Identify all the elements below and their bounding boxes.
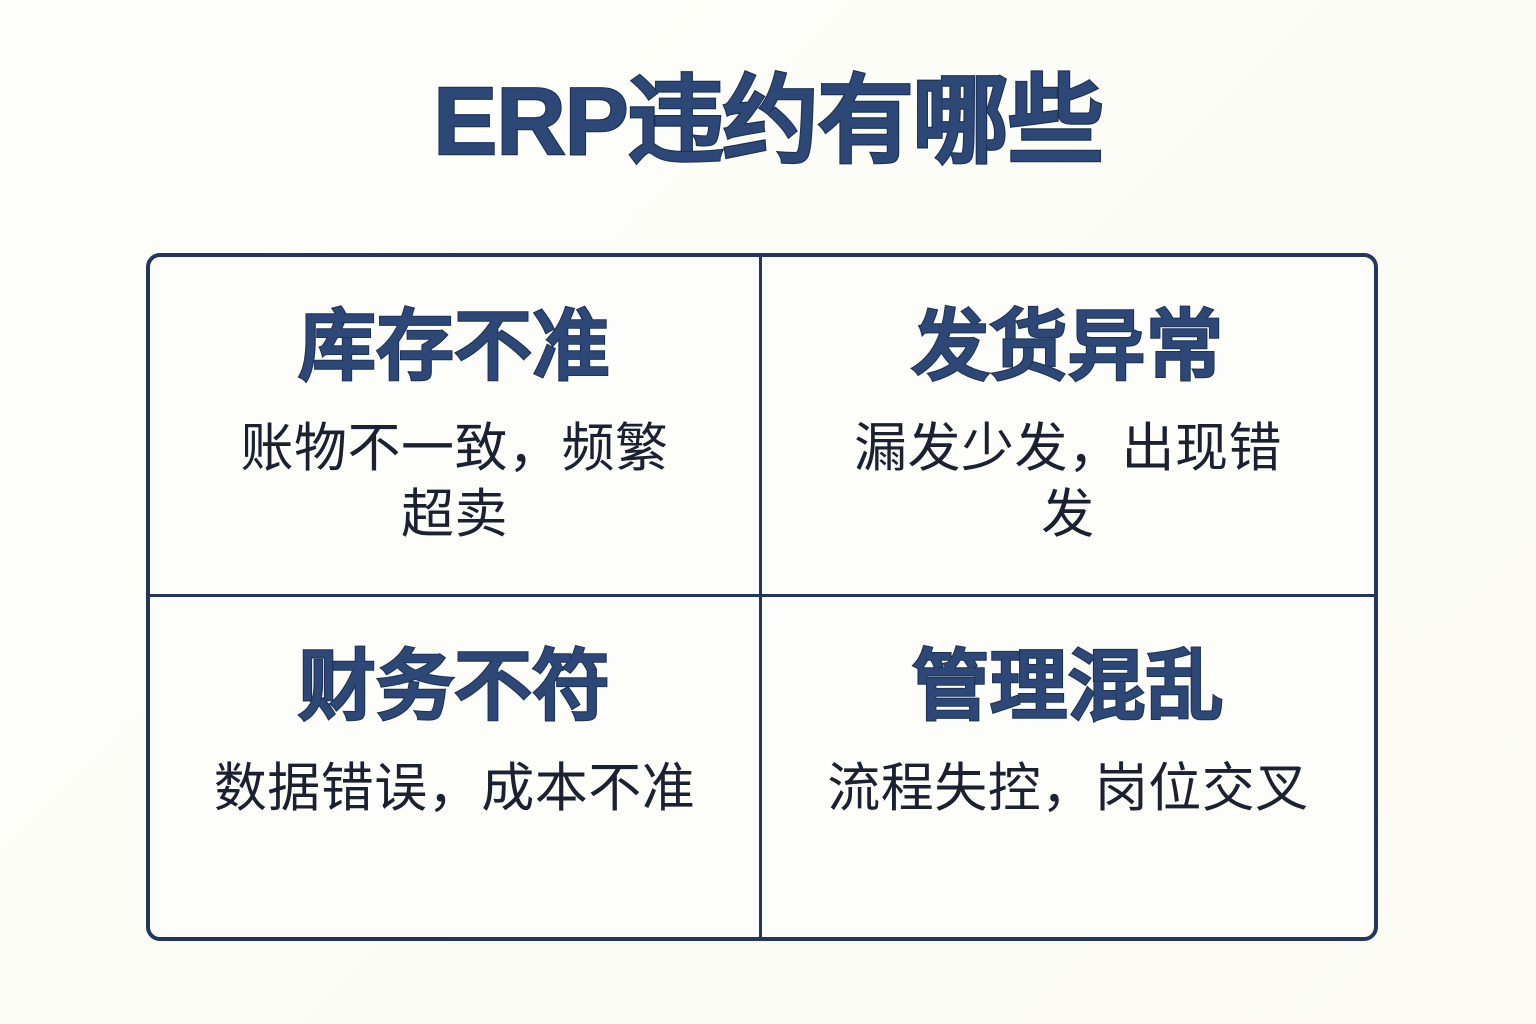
quadrant-body: 流程失控，岗位交叉 [827, 756, 1309, 822]
quadrant-cell-shipping: 发货异常 漏发少发，出现错发 [762, 257, 1374, 597]
quadrant-heading: 管理混乱 [912, 647, 1224, 728]
quadrant-body: 账物不一致，频繁超卖 [220, 416, 690, 547]
quadrant-body: 数据错误，成本不准 [214, 756, 696, 822]
quadrant-heading: 财务不符 [299, 647, 611, 728]
page-title: ERP违约有哪些 [0, 68, 1536, 176]
quadrant-body: 漏发少发，出现错发 [833, 416, 1303, 547]
quadrant-cell-management: 管理混乱 流程失控，岗位交叉 [762, 597, 1374, 937]
quadrant-matrix: 库存不准 账物不一致，频繁超卖 发货异常 漏发少发，出现错发 财务不符 数据错误… [146, 253, 1378, 941]
quadrant-heading: 库存不准 [299, 307, 611, 388]
quadrant-heading: 发货异常 [912, 307, 1224, 388]
poster-canvas: ERP违约有哪些 库存不准 账物不一致，频繁超卖 发货异常 漏发少发，出现错发 … [0, 0, 1536, 1024]
quadrant-cell-finance: 财务不符 数据错误，成本不准 [150, 597, 762, 937]
quadrant-cell-inventory: 库存不准 账物不一致，频繁超卖 [150, 257, 762, 597]
